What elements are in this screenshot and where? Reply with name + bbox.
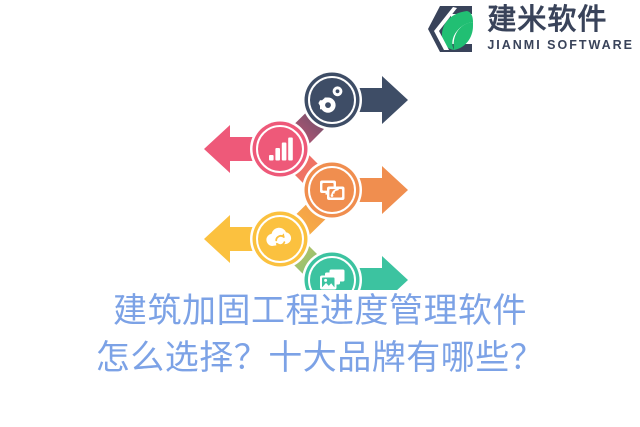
promo-banner: 建米软件 JIANMI SOFTWARE (0, 0, 640, 427)
step-2-group (204, 119, 310, 179)
headline-line-2: 怎么选择？十大品牌有哪些？ (0, 335, 640, 382)
page-title: 建筑加固工程进度管理软件 怎么选择？十大品牌有哪些？ (0, 288, 640, 382)
brand-wordmark: 建米软件 JIANMI SOFTWARE (487, 4, 634, 53)
step-1-group (302, 70, 408, 130)
headline-line-1: 建筑加固工程进度管理软件 (0, 288, 640, 335)
brand-logo: 建米软件 JIANMI SOFTWARE (427, 4, 634, 54)
step-5-group (302, 250, 408, 290)
step-3-group (302, 160, 408, 220)
brand-name-en: JIANMI SOFTWARE (487, 37, 634, 53)
brand-name-cn: 建米软件 (487, 5, 607, 35)
five-step-arrow-infographic (186, 60, 426, 290)
jianmi-leaf-logo-icon (427, 4, 481, 54)
step-4-group (204, 209, 310, 269)
